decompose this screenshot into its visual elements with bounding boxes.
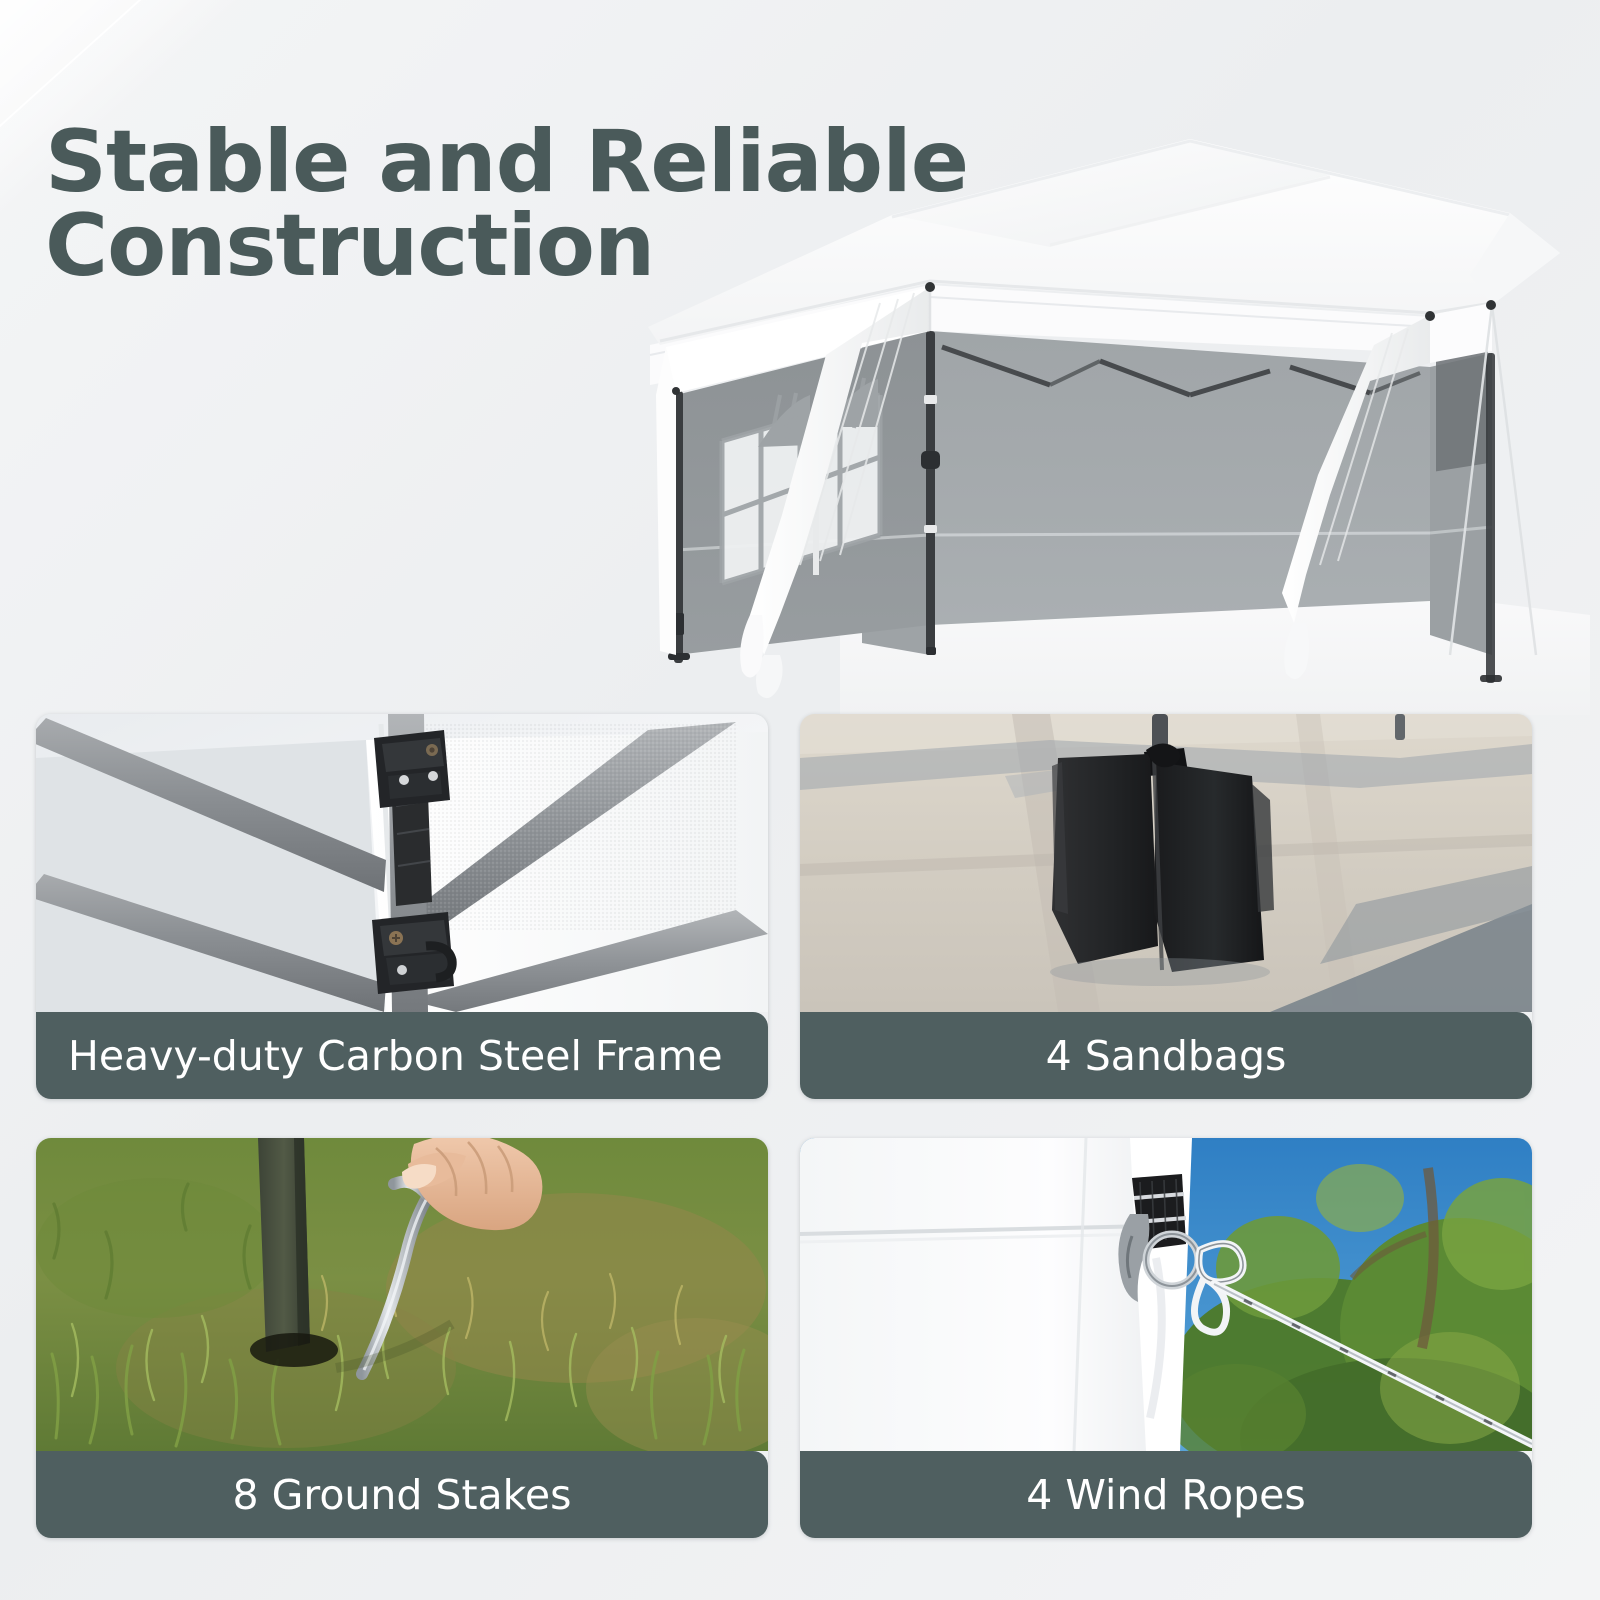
page-title-line-1: Stable and Reliable — [45, 120, 968, 204]
feature-caption-frame: Heavy-duty Carbon Steel Frame — [36, 1012, 768, 1099]
page-title-line-2: Construction — [45, 204, 968, 288]
carbon-steel-frame-image — [36, 714, 768, 1012]
sandbags-image — [800, 714, 1532, 1012]
wind-ropes-image — [800, 1138, 1532, 1451]
feature-caption-ropes: 4 Wind Ropes — [800, 1451, 1532, 1538]
feature-card-stakes[interactable]: 8 Ground Stakes — [36, 1138, 768, 1538]
feature-caption-sandbags: 4 Sandbags — [800, 1012, 1532, 1099]
feature-caption-stakes: 8 Ground Stakes — [36, 1451, 768, 1538]
feature-card-ropes[interactable]: 4 Wind Ropes — [800, 1138, 1532, 1538]
page-title: Stable and Reliable Construction — [45, 120, 968, 289]
feature-card-frame[interactable]: Heavy-duty Carbon Steel Frame — [36, 714, 768, 1099]
ground-stakes-image — [36, 1138, 768, 1451]
feature-card-sandbags[interactable]: 4 Sandbags — [800, 714, 1532, 1099]
